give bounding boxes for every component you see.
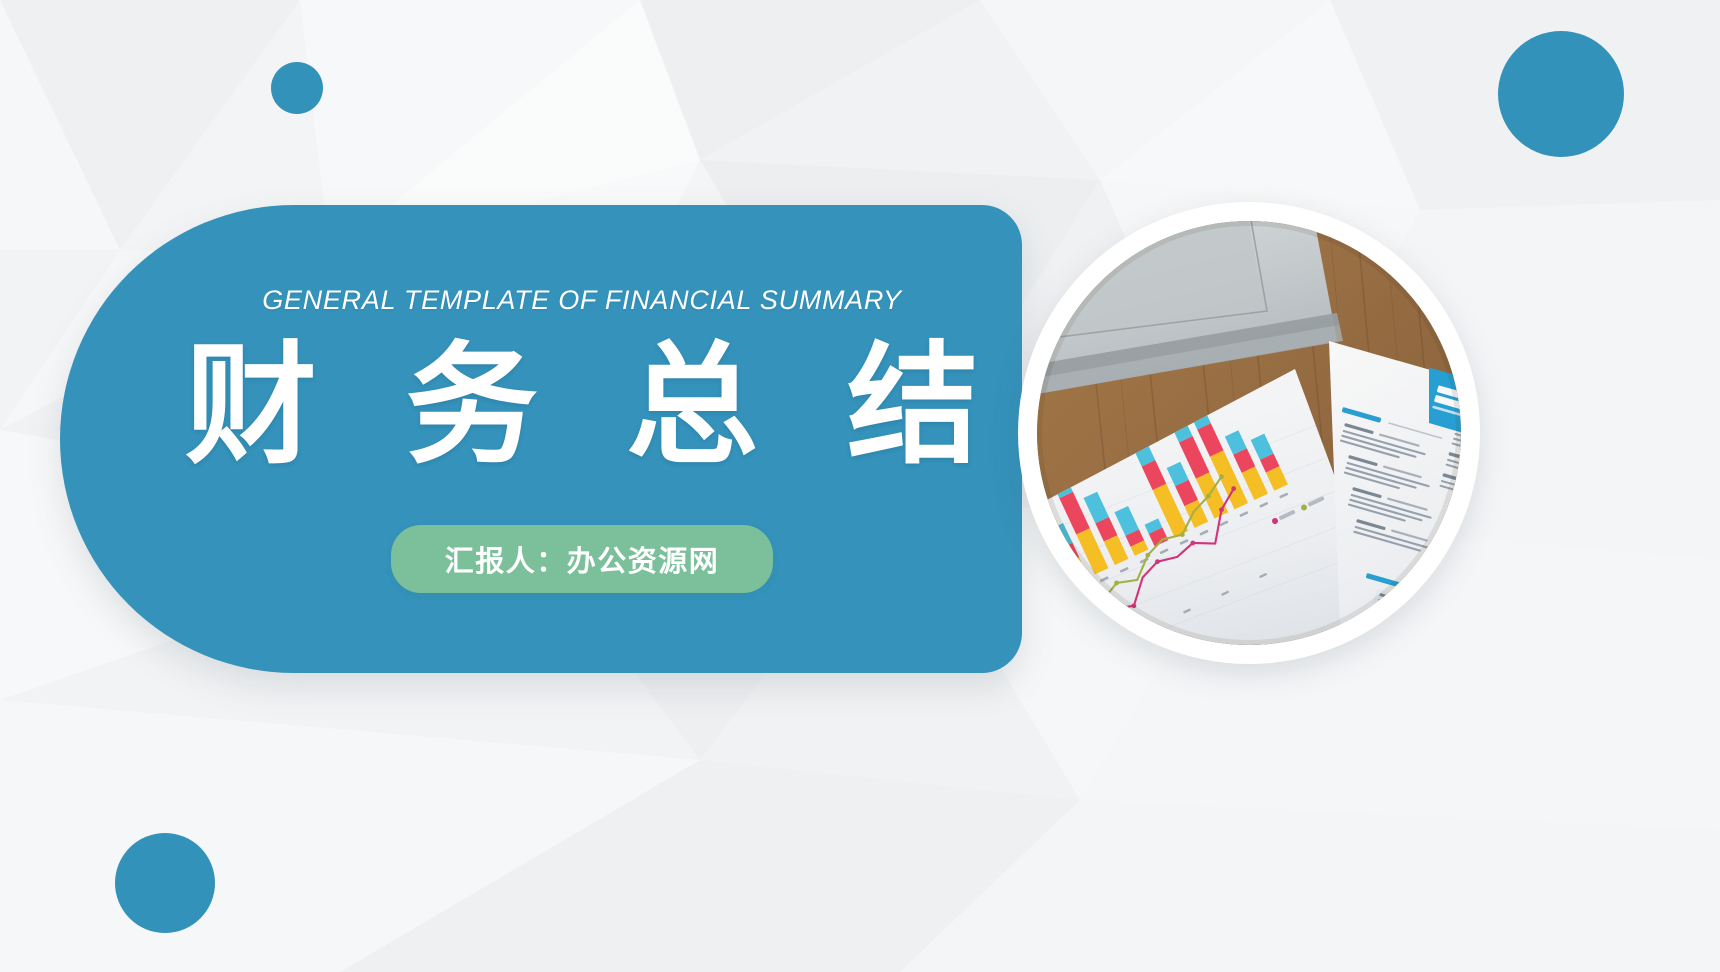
- desk-photo-illustration: [1037, 221, 1461, 645]
- decor-circle-bottom-left: [115, 833, 215, 933]
- presenter-badge: 汇报人：办公资源网: [391, 525, 774, 593]
- decor-circle-top-left: [271, 62, 323, 114]
- decor-circle-top-right: [1498, 31, 1624, 157]
- title-panel-content: GENERAL TEMPLATE OF FINANCIAL SUMMARY 财 …: [60, 205, 1080, 673]
- presentation-slide: GENERAL TEMPLATE OF FINANCIAL SUMMARY 财 …: [0, 0, 1720, 972]
- photo-circle-image: [1037, 221, 1461, 645]
- subtitle-english: GENERAL TEMPLATE OF FINANCIAL SUMMARY: [262, 285, 902, 316]
- photo-circle-frame: [1018, 202, 1480, 664]
- page-title: 财 务 总 结: [159, 332, 1005, 480]
